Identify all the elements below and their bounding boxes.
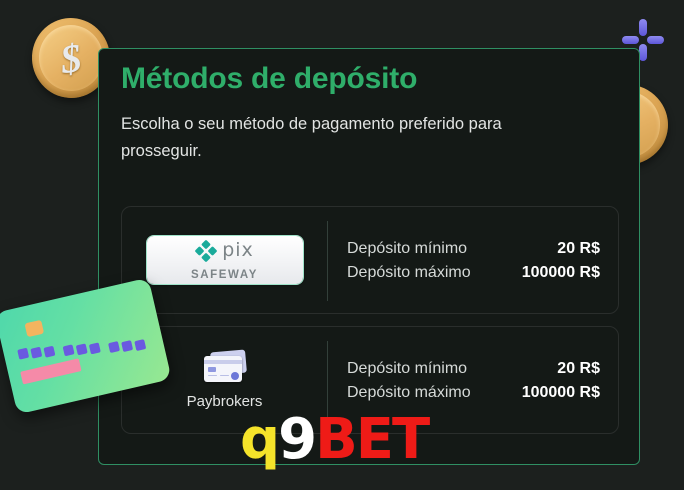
brand-nine: 9 bbox=[278, 407, 315, 472]
safeway-wordmark: SAFEWAY bbox=[191, 269, 258, 281]
pix-logo-row: pix bbox=[195, 240, 254, 262]
card-chip bbox=[24, 320, 44, 337]
card-digit-block bbox=[108, 341, 120, 353]
pix-wordmark: pix bbox=[222, 241, 254, 260]
brand-logo: q9BET bbox=[240, 412, 428, 468]
min-deposit-value: 20 R$ bbox=[557, 360, 600, 378]
max-deposit-value: 100000 R$ bbox=[522, 384, 600, 402]
screen-root: $ $ Métodos de depósito Escolha o seu mé… bbox=[0, 0, 684, 490]
card-line bbox=[208, 375, 217, 377]
card-digit-block bbox=[43, 346, 55, 358]
card-magstripe bbox=[20, 358, 81, 384]
plus-arm-top bbox=[639, 19, 647, 36]
plus-arm-right bbox=[647, 36, 664, 44]
card-digit-block bbox=[63, 344, 75, 356]
max-deposit-label: Depósito máximo bbox=[347, 264, 471, 282]
dollar-sign-icon: $ bbox=[58, 33, 84, 82]
min-deposit-label: Depósito mínimo bbox=[347, 360, 467, 378]
method-card-pix-safeway[interactable]: pix SAFEWAY Depósito mínimo 20 R$ Depósi… bbox=[121, 206, 619, 314]
table-row: Depósito mínimo 20 R$ bbox=[347, 360, 600, 378]
brand-bet: BET bbox=[315, 407, 428, 472]
pix-safeway-logo: pix SAFEWAY bbox=[147, 236, 303, 284]
card-digit-block bbox=[76, 343, 88, 355]
min-deposit-value: 20 R$ bbox=[557, 240, 600, 258]
card-digit-block bbox=[89, 342, 101, 354]
table-row: Depósito máximo 100000 R$ bbox=[347, 384, 600, 402]
pix-diamond-icon bbox=[195, 240, 217, 262]
card-digit-block bbox=[134, 339, 146, 351]
card-digit-block bbox=[17, 348, 29, 360]
deposit-methods-panel: Métodos de depósito Escolha o seu método… bbox=[98, 48, 640, 465]
table-row: Depósito mínimo 20 R$ bbox=[347, 240, 600, 258]
brand-q: q bbox=[240, 407, 278, 472]
card-badge bbox=[231, 372, 239, 380]
max-deposit-label: Depósito máximo bbox=[347, 384, 471, 402]
method-info-column: Depósito mínimo 20 R$ Depósito máximo 10… bbox=[347, 207, 600, 313]
card-digit-block bbox=[30, 347, 42, 359]
page-title: Métodos de depósito bbox=[121, 62, 417, 96]
credit-cards-icon bbox=[202, 351, 248, 385]
max-deposit-value: 100000 R$ bbox=[522, 264, 600, 282]
plus-arm-bottom bbox=[639, 44, 647, 61]
table-row: Depósito máximo 100000 R$ bbox=[347, 264, 600, 282]
card-digit-block bbox=[121, 340, 133, 352]
page-subtitle: Escolha o seu método de pagamento prefer… bbox=[121, 111, 571, 164]
card-divider bbox=[327, 221, 328, 301]
card-magstripe bbox=[204, 360, 242, 364]
card-line bbox=[220, 375, 229, 377]
card-front-shape bbox=[204, 356, 242, 382]
card-chip bbox=[208, 367, 216, 372]
min-deposit-label: Depósito mínimo bbox=[347, 240, 467, 258]
plus-arm-left bbox=[622, 36, 639, 44]
